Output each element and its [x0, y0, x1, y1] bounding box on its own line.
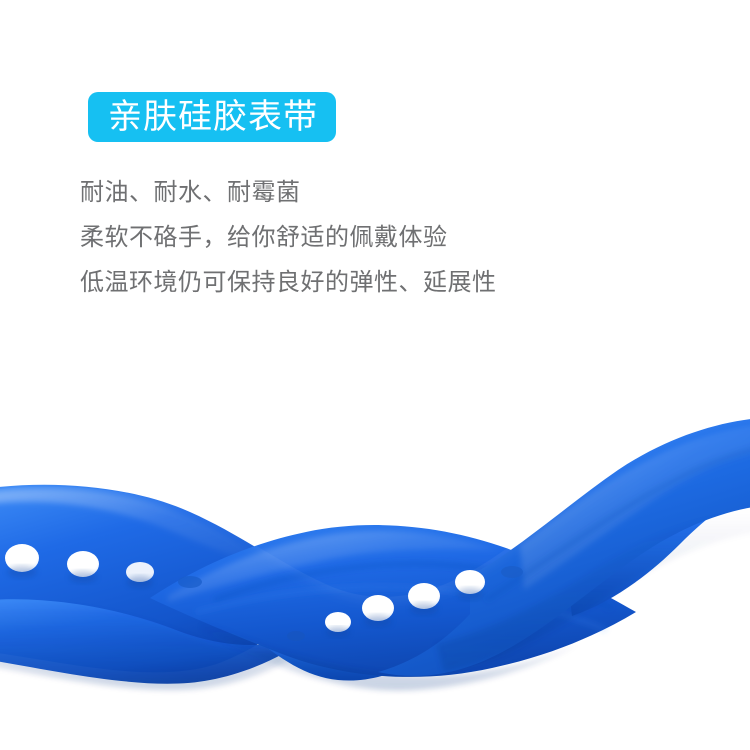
product-detail-page: 亲肤硅胶表带 耐油、耐水、耐霉菌 柔软不硌手，给你舒适的佩戴体验 低温环境仍可保…	[0, 0, 750, 750]
title-badge-label: 亲肤硅胶表带	[108, 100, 318, 134]
title-badge: 亲肤硅胶表带	[88, 92, 336, 142]
product-photo	[0, 300, 750, 750]
silicone-strap-illustration	[0, 300, 750, 750]
strap-hole-shadow	[410, 603, 438, 615]
feature-list: 耐油、耐水、耐霉菌 柔软不硌手，给你舒适的佩戴体验 低温环境仍可保持良好的弹性、…	[80, 170, 680, 305]
feature-line-1: 耐油、耐水、耐霉菌	[80, 170, 680, 215]
strap-hole-shadow	[7, 566, 37, 578]
strap-hole-shadow	[364, 615, 392, 627]
strap-hole	[178, 576, 202, 588]
feature-line-2: 柔软不硌手，给你舒适的佩戴体验	[80, 215, 680, 260]
strap-hole	[501, 566, 523, 578]
strap-hole	[287, 631, 305, 641]
strap-hole-shadow	[457, 588, 483, 600]
strap-hole-shadow	[69, 571, 97, 583]
strap-hole-shadow	[127, 576, 153, 588]
feature-line-3: 低温环境仍可保持良好的弹性、延展性	[80, 260, 680, 305]
strap-hole-shadow	[326, 627, 350, 637]
